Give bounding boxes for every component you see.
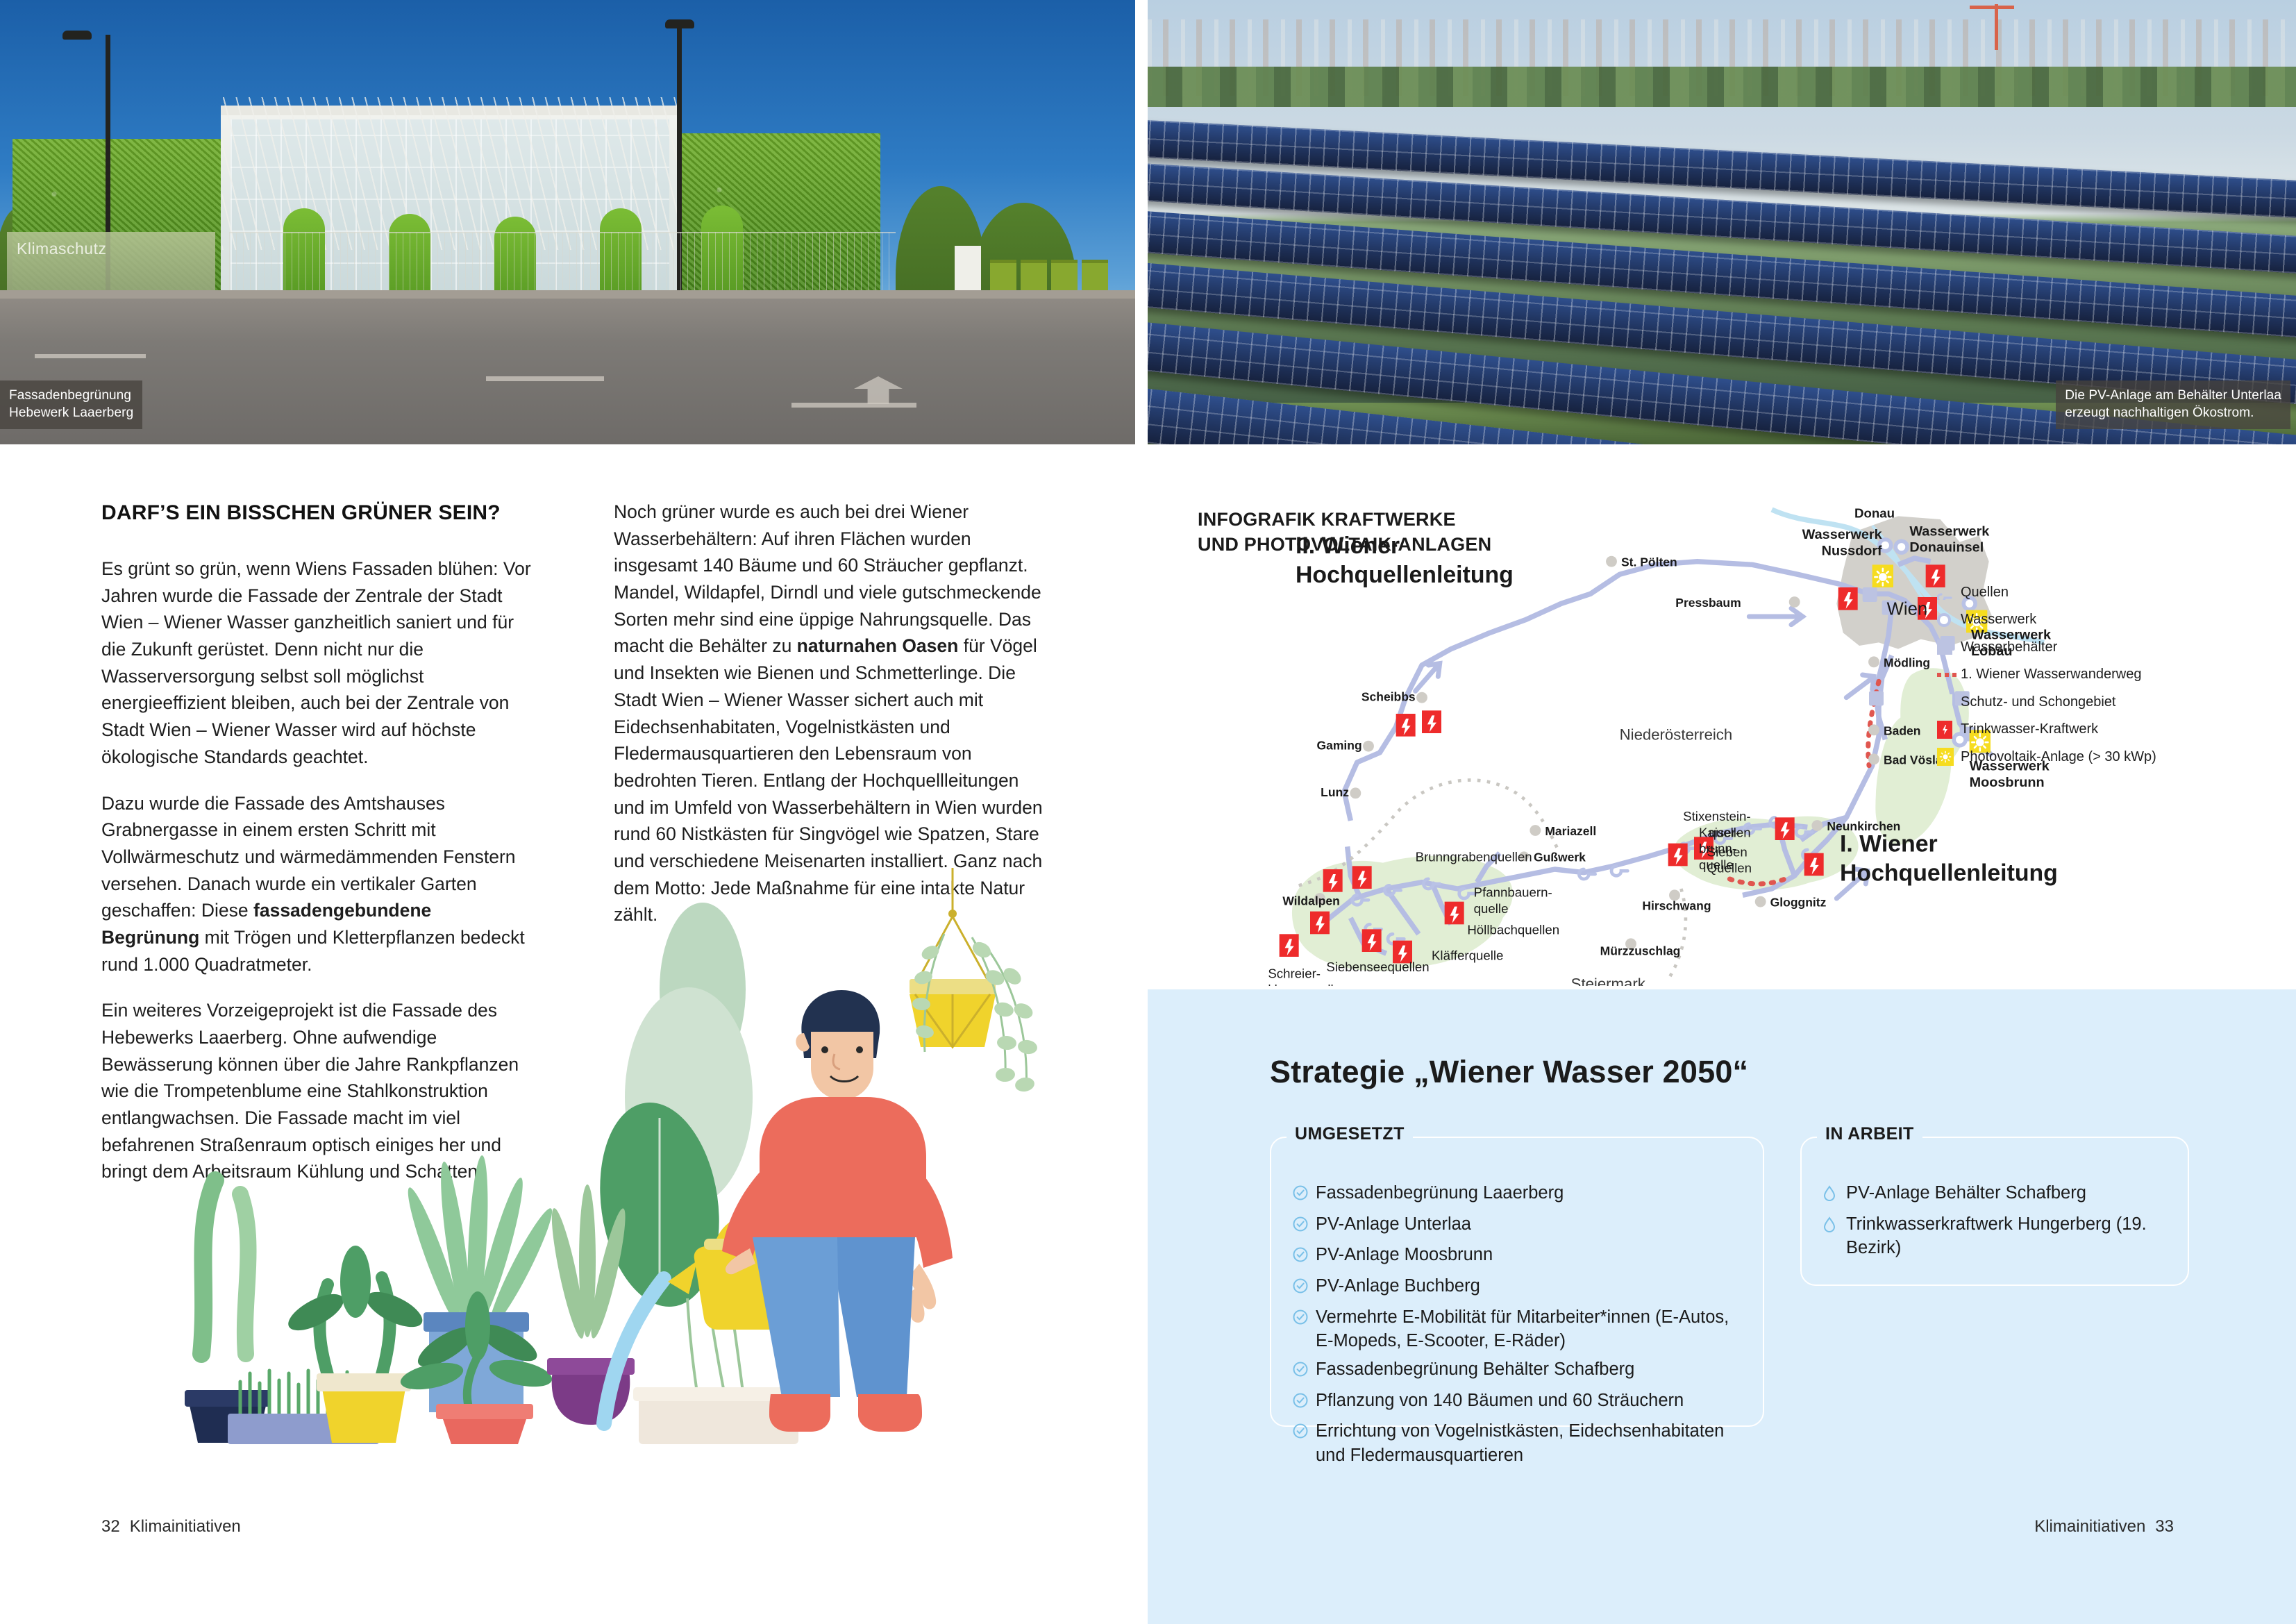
- photo-pv-unterlaa: Die PV-Anlage am Behälter Unterlaa erzeu…: [1148, 0, 2296, 444]
- legend-item-wasserwanderweg: 1. Wiener Wasserwanderweg: [1937, 666, 2236, 684]
- legend-item-wasserbehaelter: Wasserbehälter: [1937, 638, 2236, 656]
- map-label-gaming: Gaming: [1317, 738, 1362, 752]
- strategy-panel: Strategie „Wiener Wasser 2050“ UMGESETZT…: [1148, 989, 2296, 1624]
- legend-item-quellen: Quellen: [1937, 583, 2236, 601]
- list-item: Fassadenbegrünung Behälter Schafberg: [1292, 1357, 1749, 1384]
- waste-bin-2: [1021, 260, 1047, 293]
- map-label-lunz: Lunz: [1321, 785, 1349, 799]
- footer-section-right: Klimainitiativen: [2034, 1517, 2145, 1536]
- legend-label-quellen: Quellen: [1961, 585, 2009, 601]
- article-headline: DARF’S EIN BISSCHEN GRÜNER SEIN?: [101, 501, 546, 525]
- map-label-ww-donauinsel-l1: Wasserwerk: [1909, 524, 1990, 539]
- map-label-pipeline-2-line2: Hochquellenleitung: [1296, 562, 1514, 588]
- check-circle-icon: [1292, 1181, 1316, 1208]
- map-label-ww-moosbrunn-l2: Moosbrunn: [1970, 775, 2045, 790]
- lane-marking-2: [486, 376, 604, 381]
- list-item: PV-Anlage Behälter Schafberg: [1822, 1181, 2181, 1208]
- photo-caption-right: Die PV-Anlage am Behälter Unterlaa erzeu…: [2056, 380, 2290, 429]
- map-label-stixensteinquellen-l1: Stixenstein-: [1683, 809, 1750, 823]
- legend-label-kraftwerk: Trinkwasser-Kraftwerk: [1961, 721, 2098, 737]
- waste-bin-3: [1051, 260, 1078, 293]
- klimaschutz-sign-label: Klimaschutz: [17, 240, 106, 258]
- map-label-schreierklammquelle-l2: klammquelle: [1268, 982, 1341, 986]
- map-label-wien: Wien: [1887, 600, 1927, 619]
- list-item-label: PV-Anlage Moosbrunn: [1316, 1243, 1749, 1267]
- page-left: Klimaschutz Fassadenbegrünung Hebewerk L…: [0, 0, 1148, 1624]
- solar-icon: [1937, 748, 1961, 766]
- hanging-plant-icon: [910, 868, 1038, 1093]
- list-in-arbeit: PV-Anlage Behälter Schafberg Trinkwasser…: [1822, 1181, 2181, 1264]
- list-item: Fassadenbegrünung Laaerberg: [1292, 1181, 1749, 1208]
- map-label-scheibbs: Scheibbs: [1361, 689, 1416, 703]
- map-label-donau: Donau: [1854, 506, 1895, 521]
- map-label-baden: Baden: [1884, 723, 1920, 737]
- spring-icon: [1937, 583, 1961, 601]
- check-circle-icon: [1292, 1305, 1316, 1332]
- list-item-label: Fassadenbegrünung Behälter Schafberg: [1316, 1357, 1749, 1382]
- list-item-label: Vermehrte E-Mobilität für Mitarbeiter*in…: [1316, 1305, 1749, 1353]
- waste-bin-4: [1082, 260, 1108, 293]
- map-label-pfannbauernquelle-l1: Pfannbauern-: [1474, 885, 1552, 900]
- footer-section-left: Klimainitiativen: [130, 1517, 241, 1536]
- potted-plant-yellow-pot: [283, 1246, 428, 1443]
- map-label-niederoesterreich: Niederösterreich: [1620, 726, 1733, 743]
- waste-bin-1: [990, 260, 1016, 293]
- map-label-steiermark: Steiermark: [1571, 976, 1646, 986]
- pv-treeline: [1148, 67, 2296, 107]
- paragraph-4-bold: naturnahen Oasen: [797, 635, 959, 656]
- map-label-pressbaum: Pressbaum: [1675, 596, 1741, 610]
- map-label-klaefferquelle: Kläfferquelle: [1432, 948, 1503, 963]
- map-label-pipeline-1-line2: Hochquellenleitung: [1840, 860, 2058, 886]
- paragraph-4-part-a: Noch grüner wurde es auch bei drei Wiene…: [614, 501, 1041, 656]
- map-legend: Quellen Wasserwerk Wasserbehälter 1. Wie…: [1937, 583, 2236, 776]
- legend-label-wasserbehaelter: Wasserbehälter: [1961, 639, 2057, 655]
- metal-fence: [229, 232, 896, 296]
- check-circle-icon: [1292, 1419, 1316, 1446]
- paragraph-1: Es grünt so grün, wenn Wiens Fassaden bl…: [101, 555, 532, 771]
- legend-item-schongebiet: Schutz- und Schongebiet: [1937, 693, 2236, 711]
- strategy-title: Strategie „Wiener Wasser 2050“: [1270, 1054, 1748, 1090]
- map-label-schreierklammquelle-l1: Schreier-: [1268, 966, 1321, 980]
- fieldset-in-arbeit: IN ARBEIT PV-Anlage Behälter Schafberg T…: [1800, 1137, 2189, 1286]
- list-item: PV-Anlage Buchberg: [1292, 1274, 1749, 1301]
- fieldset-umgesetzt: UMGESETZT Fassadenbegrünung Laaerberg PV…: [1270, 1137, 1764, 1427]
- list-item-label: PV-Anlage Behälter Schafberg: [1846, 1181, 2181, 1205]
- list-item: Errichtung von Vogelnistkästen, Eidechse…: [1292, 1419, 1749, 1467]
- map-label-st-poelten: St. Pölten: [1621, 555, 1677, 569]
- construction-crane-jib: [1970, 6, 2014, 9]
- list-item: PV-Anlage Unterlaa: [1292, 1212, 1749, 1239]
- legend-label-wasserwanderweg: 1. Wiener Wasserwanderweg: [1961, 667, 2141, 683]
- map-label-stixensteinquellen-l2: quellen: [1709, 825, 1750, 839]
- list-item-label: Trinkwasserkraftwerk Hungerberg (19. Bez…: [1846, 1212, 2181, 1260]
- fieldset-legend-umgesetzt: UMGESETZT: [1287, 1124, 1413, 1144]
- waterworks-circle-icon: [1937, 611, 1961, 629]
- illustration-plants-and-person: [174, 868, 1083, 1444]
- list-item-label: Pflanzung von 140 Bäumen und 60 Sträuche…: [1316, 1389, 1749, 1413]
- list-item-label: PV-Anlage Buchberg: [1316, 1274, 1749, 1298]
- check-circle-icon: [1292, 1212, 1316, 1239]
- fieldset-legend-in-arbeit: IN ARBEIT: [1817, 1124, 1922, 1144]
- list-umgesetzt: Fassadenbegrünung Laaerberg PV-Anlage Un…: [1292, 1181, 1749, 1472]
- map-label-moedling: Mödling: [1884, 655, 1930, 669]
- street-lamp-head-2: [665, 19, 694, 28]
- street: [0, 299, 1135, 444]
- reservoir-square-icon: [1937, 638, 1961, 656]
- legend-label-photovoltaik: Photovoltaik-Anlage (> 30 kWp): [1961, 749, 2156, 765]
- map-label-hoellbachquellen: Höllbachquellen: [1467, 922, 1559, 937]
- footer-right: Klimainitiativen33: [2034, 1517, 2174, 1537]
- map-label-mariazell: Mariazell: [1545, 824, 1596, 838]
- person-watering-illustration: [722, 990, 953, 1432]
- legend-item-kraftwerk: Trinkwasser-Kraftwerk: [1937, 721, 2236, 739]
- lane-marking-1: [35, 354, 146, 358]
- map-label-neunkirchen: Neunkirchen: [1827, 819, 1900, 833]
- potted-plant-tall-wavy: [185, 1180, 271, 1443]
- list-item-label: PV-Anlage Unterlaa: [1316, 1212, 1749, 1237]
- lane-marking-3: [791, 403, 916, 408]
- page-number-right: 33: [2155, 1517, 2174, 1536]
- map-label-pipeline-2-line1: II. Wiener: [1296, 533, 1400, 559]
- list-item-label: Errichtung von Vogelnistkästen, Eidechse…: [1316, 1419, 1749, 1467]
- map-label-ww-nussdorf-l1: Wasserwerk: [1802, 527, 1883, 542]
- utility-cabinet: [955, 246, 981, 293]
- map-label-muerzzuschlag: Mürzzuschlag: [1600, 944, 1681, 958]
- potted-plant-red-pot: [398, 1291, 554, 1444]
- map-label-gusswerk: Gußwerk: [1534, 850, 1586, 864]
- map-label-gloggnitz: Gloggnitz: [1770, 896, 1827, 910]
- map-label-kaiserbrunnquelle-l3: quelle: [1699, 857, 1734, 872]
- page-number-left: 32: [101, 1517, 120, 1536]
- legend-item-photovoltaik: Photovoltaik-Anlage (> 30 kWp): [1937, 748, 2236, 766]
- water-drop-icon: [1822, 1212, 1846, 1239]
- map-label-kaiserbrunnquelle-l2: brunn-: [1699, 842, 1736, 856]
- legend-label-schongebiet: Schutz- und Schongebiet: [1961, 694, 2116, 710]
- photo-caption-left-line2: Hebewerk Laaerberg: [9, 404, 133, 422]
- potted-plant-purple-pot: [546, 1184, 635, 1425]
- check-circle-icon: [1292, 1243, 1316, 1270]
- check-circle-icon: [1292, 1357, 1316, 1384]
- map-label-siebenseequellen: Siebenseequellen: [1326, 960, 1429, 974]
- photo-caption-right-line1: Die PV-Anlage am Behälter Unterlaa: [2065, 387, 2281, 405]
- list-item: Pflanzung von 140 Bäumen und 60 Sträuche…: [1292, 1389, 1749, 1416]
- street-lamp-head-1: [62, 31, 92, 40]
- map-label-ww-donauinsel-l2: Donauinsel: [1909, 540, 1984, 555]
- dotted-line-icon: [1937, 666, 1961, 684]
- power-plant-icon: [1937, 721, 1961, 739]
- legend-item-wasserwerk: Wasserwerk: [1937, 611, 2236, 629]
- map-label-ww-nussdorf-l2: Nussdorf: [1822, 543, 1882, 558]
- paragraph-4: Noch grüner wurde es auch bei drei Wiene…: [614, 499, 1044, 928]
- check-circle-icon: [1292, 1274, 1316, 1301]
- list-item: Vermehrte E-Mobilität für Mitarbeiter*in…: [1292, 1305, 1749, 1353]
- map-label-pfannbauernquelle-l2: quelle: [1474, 901, 1509, 916]
- map-label-hirschwang: Hirschwang: [1642, 898, 1711, 912]
- footer-left: 32Klimainitiativen: [101, 1517, 241, 1537]
- photo-facade-laaerberg: Klimaschutz Fassadenbegrünung Hebewerk L…: [0, 0, 1135, 444]
- check-circle-icon: [1292, 1389, 1316, 1416]
- arrow-marking: [854, 376, 903, 404]
- list-item: Trinkwasserkraftwerk Hungerberg (19. Bez…: [1822, 1212, 2181, 1260]
- photo-caption-left: Fassadenbegrünung Hebewerk Laaerberg: [0, 380, 142, 429]
- legend-label-wasserwerk: Wasserwerk: [1961, 612, 2036, 628]
- map-label-wildalpen: Wildalpen: [1282, 894, 1339, 907]
- illustration-svg: [174, 868, 1083, 1444]
- map-label-brunngrabenquellen: Brunngrabenquellen: [1416, 849, 1532, 864]
- list-item-label: Fassadenbegrünung Laaerberg: [1316, 1181, 1749, 1205]
- construction-crane: [1995, 4, 1998, 50]
- water-drop-icon: [1822, 1181, 1846, 1208]
- map-label-pipeline-1-line1: I. Wiener: [1840, 830, 1938, 857]
- photo-caption-right-line2: erzeugt nachhaltigen Ökostrom.: [2065, 404, 2281, 422]
- photo-caption-left-line1: Fassadenbegrünung: [9, 387, 133, 405]
- list-item: PV-Anlage Moosbrunn: [1292, 1243, 1749, 1270]
- protection-area-icon: [1937, 693, 1961, 711]
